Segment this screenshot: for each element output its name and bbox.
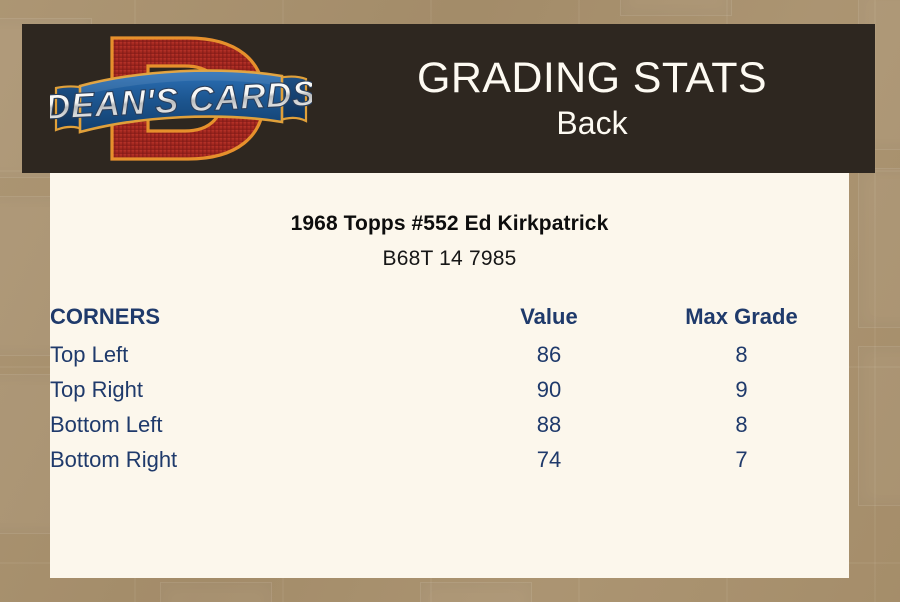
table-row: Bottom Left 88 8 [50, 412, 849, 447]
table-row: Top Left 86 8 [50, 342, 849, 377]
table-row: Bottom Right 74 7 [50, 447, 849, 482]
grading-stats-page: DEAN'S CARDS GRADING STATS Back 1968 Top… [0, 0, 900, 602]
table-row: Top Right 90 9 [50, 377, 849, 412]
row-label: Top Left [50, 342, 464, 377]
page-subtitle: Back [322, 102, 862, 144]
grading-stats-table: CORNERS Value Max Grade Top Left 86 8 To… [50, 304, 849, 482]
row-value: 86 [464, 342, 634, 377]
column-header-corners: CORNERS [50, 304, 464, 342]
column-header-value: Value [464, 304, 634, 342]
stats-panel: 1968 Topps #552 Ed Kirkpatrick B68T 14 7… [50, 173, 849, 578]
row-value: 88 [464, 412, 634, 447]
logo-ribbon-banner: DEAN'S CARDS [50, 71, 312, 132]
table-header-row: CORNERS Value Max Grade [50, 304, 849, 342]
row-label: Top Right [50, 377, 464, 412]
column-header-max-grade: Max Grade [634, 304, 849, 342]
card-code: B68T 14 7985 [50, 247, 849, 271]
page-title: GRADING STATS [322, 54, 862, 102]
row-label: Bottom Left [50, 412, 464, 447]
row-value: 90 [464, 377, 634, 412]
row-max-grade: 8 [634, 412, 849, 447]
page-header: DEAN'S CARDS GRADING STATS Back [22, 24, 875, 173]
row-max-grade: 8 [634, 342, 849, 377]
header-title-block: GRADING STATS Back [322, 54, 862, 144]
row-value: 74 [464, 447, 634, 482]
row-max-grade: 7 [634, 447, 849, 482]
row-max-grade: 9 [634, 377, 849, 412]
row-label: Bottom Right [50, 447, 464, 482]
deans-cards-logo: DEAN'S CARDS [50, 26, 312, 171]
card-title: 1968 Topps #552 Ed Kirkpatrick [50, 212, 849, 236]
